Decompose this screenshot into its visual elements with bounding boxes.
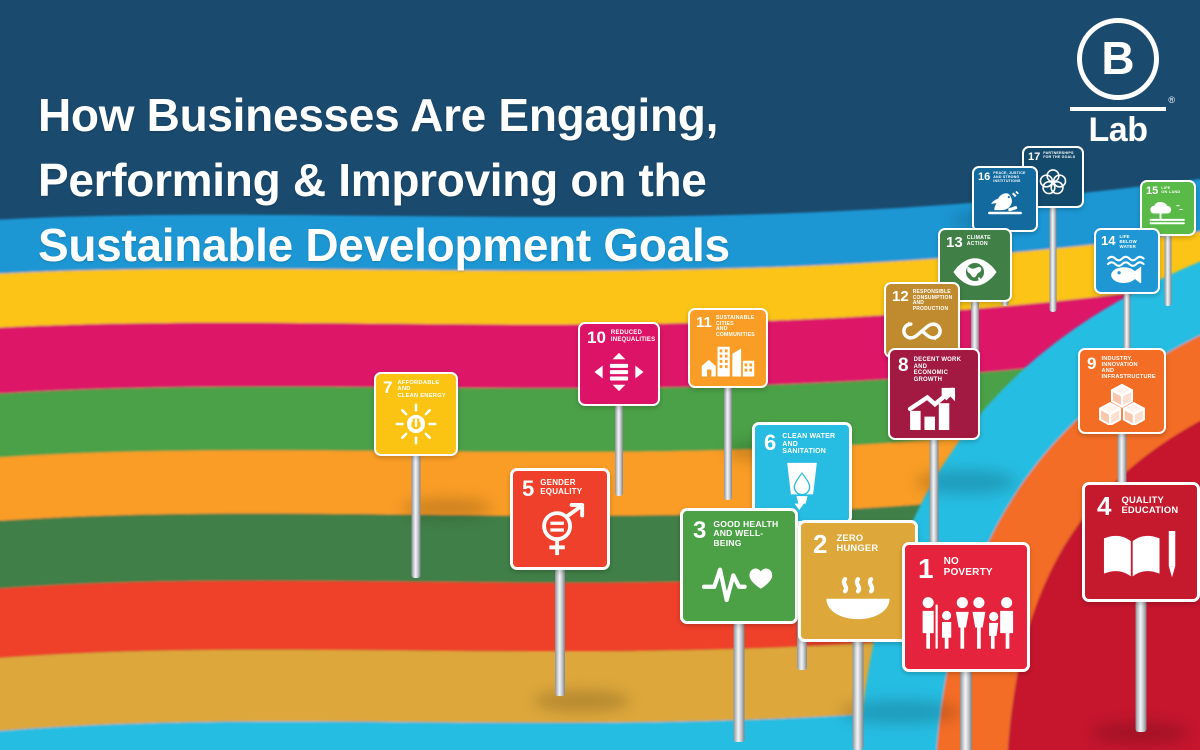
sdg-number-5: 5 [522, 479, 534, 499]
sdg-number-13: 13 [946, 236, 963, 250]
sdg-number-4: 4 [1097, 495, 1111, 519]
sdg-title-2: ZEROHUNGER [836, 533, 878, 554]
sign-pole [615, 406, 623, 496]
sdg-sign-16[interactable]: 16 PEACE, JUSTICEAND STRONGINSTITUTIONS [972, 166, 1038, 232]
sdg-number-9: 9 [1087, 356, 1096, 372]
b-lab-wordmark: Lab [1060, 113, 1176, 149]
family-group-icon [905, 582, 1027, 669]
sdg-sign-11[interactable]: 11 SUSTAINABLE CITIESAND COMMUNITIES [688, 308, 768, 388]
sdg-title-14: LIFEBELOW WATER [1119, 235, 1153, 250]
sdg-title-10: REDUCEDINEQUALITIES [611, 330, 655, 343]
page-title: How Businesses Are Engaging, Performing … [38, 83, 918, 279]
sdg-sign-4[interactable]: 4 QUALITYEDUCATION [1082, 482, 1200, 602]
sdg-title-11: SUSTAINABLE CITIESAND COMMUNITIES [716, 316, 760, 339]
sdg-title-5: GENDEREQUALITY [540, 479, 582, 497]
sdg-plate-14[interactable]: 14 LIFEBELOW WATER [1094, 228, 1160, 294]
sdg-title-7: AFFORDABLE ANDCLEAN ENERGY [397, 380, 450, 399]
sign-pole [853, 642, 864, 750]
sign-pole [1165, 236, 1172, 306]
open-book-pencil-icon [1085, 519, 1197, 599]
b-lab-circle-mark: B [1077, 18, 1159, 100]
sdg-number-11: 11 [696, 316, 712, 330]
sdg-number-12: 12 [892, 290, 909, 304]
sdg-sign-3[interactable]: 3 GOOD HEALTHAND WELL-BEING [680, 508, 798, 624]
sdg-plate-1[interactable]: 1 NOPOVERTY [902, 542, 1030, 672]
sdg-number-2: 2 [813, 533, 827, 557]
sdg-number-16: 16 [978, 172, 990, 182]
sign-pole [960, 672, 972, 750]
sign-pole [734, 624, 745, 742]
sdg-number-17: 17 [1028, 152, 1040, 162]
sdg-sign-8[interactable]: 8 DECENT WORK ANDECONOMIC GROWTH [888, 348, 980, 440]
sdg-sign-14[interactable]: 14 LIFEBELOW WATER [1094, 228, 1160, 294]
title-line-3: Sustainable Development Goals [38, 213, 918, 278]
sdg-plate-12[interactable]: 12 RESPONSIBLECONSUMPTIONAND PRODUCTION [884, 282, 960, 358]
steaming-bowl-icon [801, 557, 915, 639]
sdg-number-8: 8 [898, 357, 909, 374]
sdg-title-15: LIFEON LAND [1161, 186, 1180, 195]
sdg-sign-9[interactable]: 9 INDUSTRY, INNOVATIONAND INFRASTRUCTURE [1078, 348, 1166, 434]
sign-pole [412, 456, 421, 578]
b-lab-divider-rule: ® [1070, 107, 1166, 111]
sdg-title-13: CLIMATEACTION [967, 236, 991, 247]
sdg-title-9: INDUSTRY, INNOVATIONAND INFRASTRUCTURE [1101, 356, 1158, 381]
sdg-number-1: 1 [918, 556, 934, 582]
sdg-title-1: NOPOVERTY [944, 556, 993, 578]
sdg-title-8: DECENT WORK ANDECONOMIC GROWTH [914, 357, 972, 383]
sign-pole [1124, 294, 1131, 356]
sdg-title-3: GOOD HEALTHAND WELL-BEING [713, 520, 788, 548]
sign-pole [555, 570, 565, 696]
b-lab-logo[interactable]: B ® Lab [1060, 18, 1176, 149]
sdg-number-10: 10 [587, 330, 606, 346]
stacked-cubes-icon [1080, 381, 1164, 433]
sun-power-icon [376, 399, 456, 454]
b-lab-letter: B [1101, 35, 1134, 81]
sdg-number-15: 15 [1146, 186, 1158, 196]
dove-gavel-icon [974, 184, 1036, 230]
growth-bar-chart-arrow-icon [890, 383, 978, 438]
sign-pole [724, 388, 732, 500]
banner-canvas: How Businesses Are Engaging, Performing … [0, 0, 1200, 750]
registered-trademark-icon: ® [1168, 96, 1175, 105]
sdg-sign-1[interactable]: 1 NOPOVERTY [902, 542, 1030, 672]
sdg-number-14: 14 [1101, 235, 1115, 247]
sdg-sign-2[interactable]: 2 ZEROHUNGER [798, 520, 918, 642]
title-line-1: How Businesses Are Engaging, [38, 83, 918, 148]
sdg-plate-3[interactable]: 3 GOOD HEALTHAND WELL-BEING [680, 508, 798, 624]
sdg-title-4: QUALITYEDUCATION [1121, 495, 1178, 516]
sdg-sign-7[interactable]: 7 AFFORDABLE ANDCLEAN ENERGY [374, 372, 458, 456]
sdg-plate-8[interactable]: 8 DECENT WORK ANDECONOMIC GROWTH [888, 348, 980, 440]
sdg-title-17: PARTNERSHIPSFOR THE GOALS [1043, 152, 1075, 160]
sdg-plate-16[interactable]: 16 PEACE, JUSTICEAND STRONGINSTITUTIONS [972, 166, 1038, 232]
sdg-sign-5[interactable]: 5 GENDEREQUALITY [510, 468, 610, 570]
sdg-plate-7[interactable]: 7 AFFORDABLE ANDCLEAN ENERGY [374, 372, 458, 456]
sdg-plate-11[interactable]: 11 SUSTAINABLE CITIESAND COMMUNITIES [688, 308, 768, 388]
sdg-number-3: 3 [693, 520, 706, 542]
title-line-2: Performing & Improving on the [38, 148, 918, 213]
sdg-title-12: RESPONSIBLECONSUMPTIONAND PRODUCTION [913, 290, 953, 312]
heartbeat-line-icon [683, 548, 795, 621]
sdg-title-16: PEACE, JUSTICEAND STRONGINSTITUTIONS [993, 172, 1025, 184]
city-buildings-icon [690, 339, 766, 386]
sdg-plate-4[interactable]: 4 QUALITYEDUCATION [1082, 482, 1200, 602]
sign-pole [1136, 602, 1147, 732]
sign-pole [1050, 208, 1057, 312]
sdg-number-7: 7 [383, 380, 392, 396]
equal-arrows-icon [580, 346, 658, 404]
sdg-sign-12[interactable]: 12 RESPONSIBLECONSUMPTIONAND PRODUCTION [884, 282, 960, 358]
gender-equality-symbol-icon [513, 499, 607, 567]
sdg-sign-10[interactable]: 10 REDUCEDINEQUALITIES [578, 322, 660, 406]
sdg-plate-9[interactable]: 9 INDUSTRY, INNOVATIONAND INFRASTRUCTURE [1078, 348, 1166, 434]
sdg-plate-2[interactable]: 2 ZEROHUNGER [798, 520, 918, 642]
sdg-number-6: 6 [764, 433, 776, 453]
sign-shadow [534, 690, 630, 712]
sdg-plate-10[interactable]: 10 REDUCEDINEQUALITIES [578, 322, 660, 406]
sdg-plate-5[interactable]: 5 GENDEREQUALITY [510, 468, 610, 570]
fish-waves-icon [1096, 250, 1158, 292]
sdg-title-6: CLEAN WATERAND SANITATION [782, 433, 842, 456]
